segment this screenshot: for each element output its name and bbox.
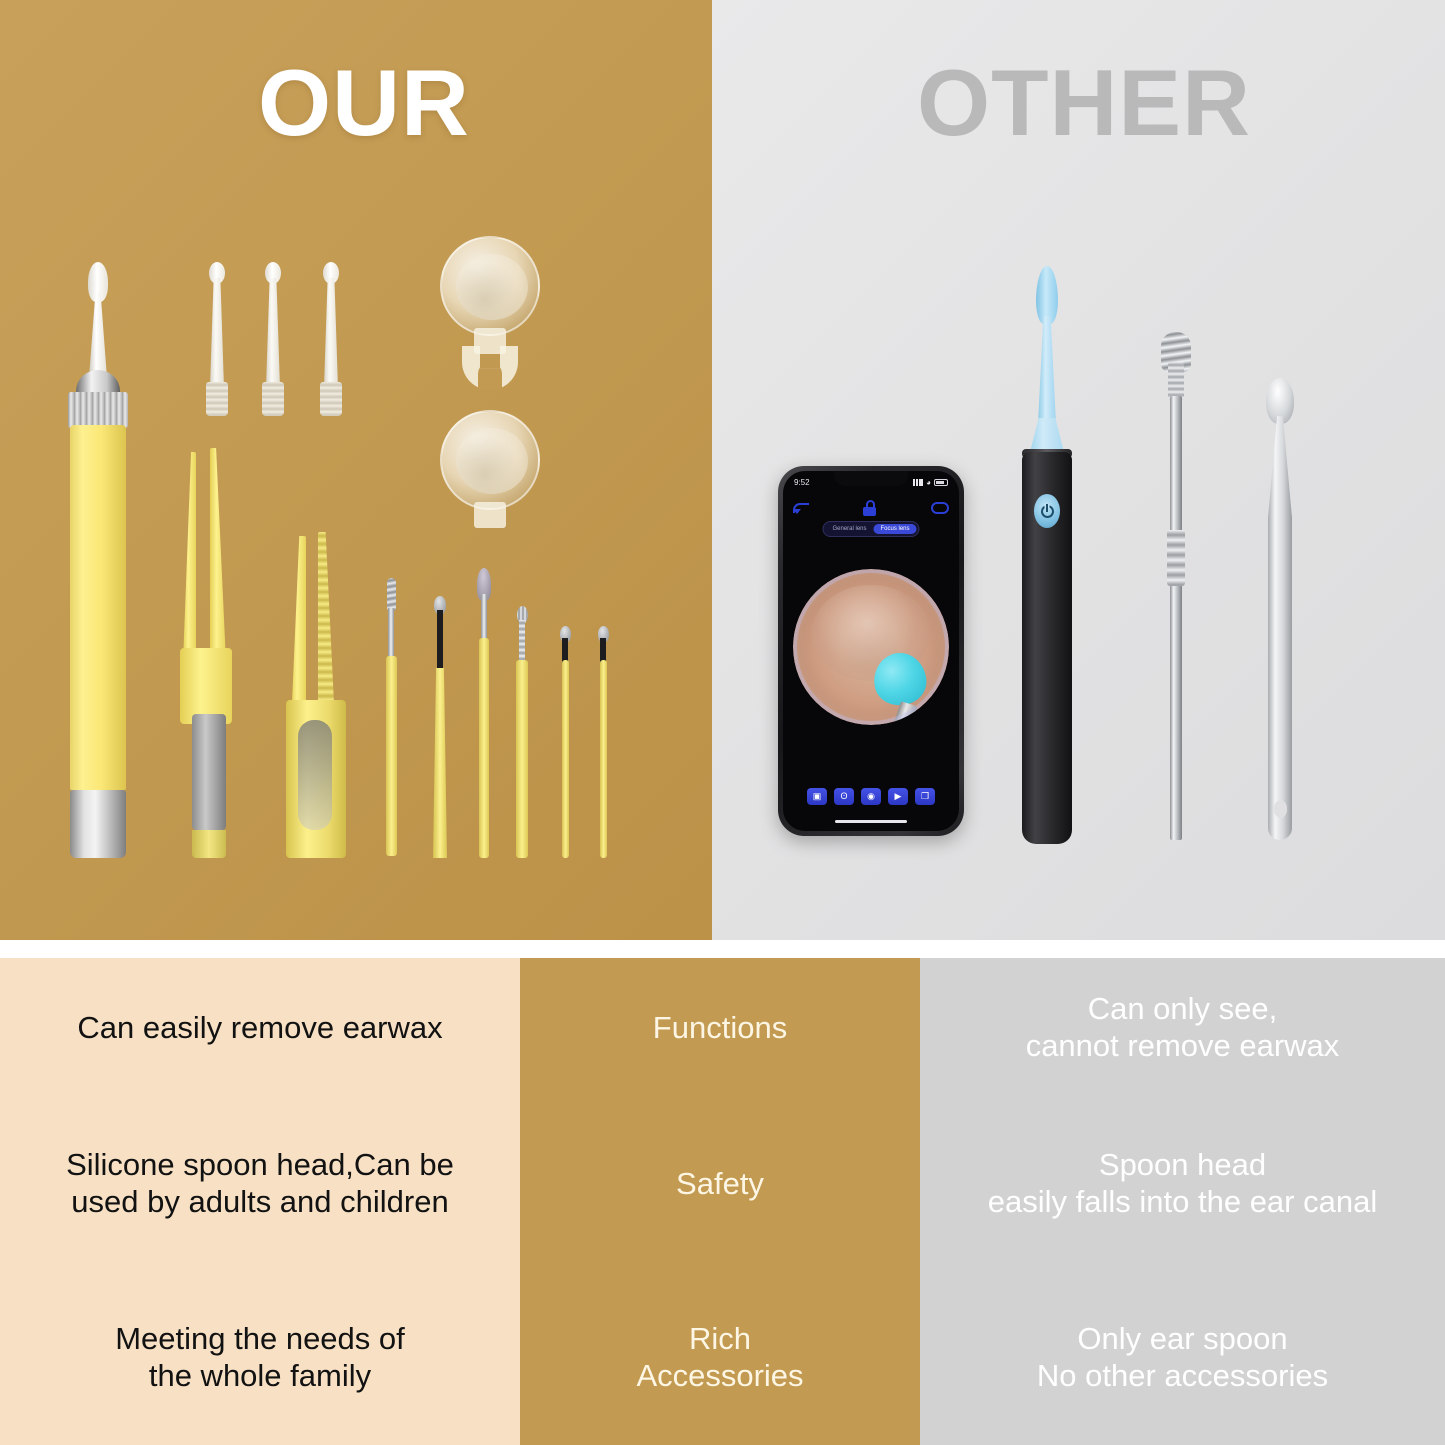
- signal-bars-icon: [913, 479, 923, 486]
- mini-tool-coil: [514, 606, 530, 858]
- lock-body: [863, 507, 876, 516]
- page-title-our: OUR: [258, 56, 470, 150]
- head-thread: [320, 382, 342, 416]
- cap-inner: [456, 428, 528, 494]
- lens-tab-general[interactable]: General lens: [825, 524, 873, 534]
- cap-dome: [440, 236, 540, 336]
- other-cell-safety: Spoon headeasily falls into the ear cana…: [920, 1098, 1445, 1270]
- pen-neck: [89, 292, 107, 378]
- small-spoon-handle: [562, 660, 569, 858]
- other-cell-accessories: Only ear spoonNo other accessories: [920, 1270, 1445, 1445]
- spiral-handle: [386, 656, 397, 856]
- share-icon[interactable]: ❐: [915, 788, 935, 805]
- scope-vignette-ring: [793, 569, 949, 725]
- clamp-arm-left: [291, 536, 306, 726]
- hero-section: OUR: [0, 0, 1445, 940]
- power-glyph: [1041, 505, 1054, 518]
- feature-cell-safety: Safety: [520, 1098, 920, 1270]
- table-row: Silicone spoon head,Can beused by adults…: [0, 1098, 1445, 1270]
- tweezer-body: [180, 648, 232, 724]
- ear-spoon-handle: [1268, 416, 1292, 840]
- app-top-bar: [783, 493, 959, 523]
- mini-tool-scoop: [432, 596, 448, 858]
- tweezer-grip: [192, 714, 226, 830]
- curette-shaft: [1170, 396, 1182, 840]
- camera-icon[interactable]: ◉: [861, 788, 881, 805]
- lens-mode-toggle[interactable]: General lens Focus lens: [822, 521, 919, 537]
- curette-neck: [1168, 362, 1184, 400]
- back-icon[interactable]: [793, 502, 809, 515]
- pen-metal-collar: [68, 392, 128, 428]
- ear-canal-camera-view: [793, 569, 949, 725]
- tweezer-arm-left: [183, 452, 196, 662]
- unlock-icon[interactable]: [863, 500, 877, 516]
- ear-icon[interactable]: ʘ: [834, 788, 854, 805]
- clamp-window: [298, 720, 332, 830]
- phone-notch: [834, 471, 908, 486]
- mini-tool-spoon-small: [558, 626, 572, 858]
- tiny-spoon-handle: [600, 660, 607, 858]
- cap-clip: [474, 502, 506, 528]
- comparison-table: Can easily remove earwax Functions Can o…: [0, 958, 1445, 1445]
- app-toolbar: ▣ ʘ ◉ ▶ ❐: [783, 788, 959, 805]
- ours-cell-functions: Can easily remove earwax: [0, 958, 520, 1098]
- status-time: 9:52: [794, 478, 810, 487]
- head-stem: [266, 278, 280, 388]
- product-comparison-infographic: OUR: [0, 0, 1445, 1445]
- hero-panel-ours: OUR: [0, 0, 712, 940]
- pen-metal-foot: [70, 790, 126, 858]
- power-button-icon[interactable]: [1034, 494, 1060, 528]
- head-stem: [324, 278, 338, 388]
- tweezer-foot: [192, 830, 226, 858]
- spiral-tip: [387, 578, 396, 612]
- cap-dome: [440, 410, 540, 510]
- cap-inner: [456, 254, 528, 320]
- brush-neck: [481, 594, 487, 642]
- scoop-neck: [437, 610, 443, 672]
- head-thread: [262, 382, 284, 416]
- table-row: Can easily remove earwax Functions Can o…: [0, 958, 1445, 1098]
- page-title-other: OTHER: [917, 56, 1251, 150]
- coil-handle: [516, 660, 528, 858]
- ours-cell-safety: Silicone spoon head,Can beused by adults…: [0, 1098, 520, 1270]
- pen-yellow-body: [70, 425, 126, 790]
- scoop-handle-yellow: [433, 668, 447, 858]
- mini-tool-spoon-tiny: [596, 626, 610, 858]
- curette-grip-rings: [1167, 530, 1185, 586]
- video-icon[interactable]: ▶: [888, 788, 908, 805]
- capsule-icon[interactable]: [931, 502, 949, 514]
- head-thread: [206, 382, 228, 416]
- status-indicators: ◕: [913, 478, 948, 487]
- clamp-arm-right-ridged: [318, 532, 335, 724]
- coil-neck: [519, 620, 525, 664]
- brush-handle: [479, 638, 489, 858]
- table-row: Meeting the needs ofthe whole family Ric…: [0, 1270, 1445, 1445]
- home-indicator: [835, 820, 907, 823]
- mini-tool-spiral: [384, 578, 398, 856]
- phone-screen: 9:52 ◕ General lens: [783, 471, 959, 831]
- mini-tool-brush: [476, 568, 492, 858]
- gallery-icon[interactable]: ▣: [807, 788, 827, 805]
- ours-cell-accessories: Meeting the needs ofthe whole family: [0, 1270, 520, 1445]
- lens-tab-focus[interactable]: Focus lens: [874, 524, 917, 534]
- feature-cell-functions: Functions: [520, 958, 920, 1098]
- head-stem: [210, 278, 224, 388]
- wifi-icon: ◕: [926, 478, 931, 487]
- ear-spoon-hole: [1274, 800, 1287, 818]
- smartphone-app-view: 9:52 ◕ General lens: [778, 466, 964, 836]
- tweezer-arm-right: [210, 448, 226, 662]
- battery-icon: [934, 479, 948, 486]
- spiral-neck: [388, 608, 394, 658]
- feature-cell-accessories: RichAccessories: [520, 1270, 920, 1445]
- other-cell-functions: Can only see,cannot remove earwax: [920, 958, 1445, 1098]
